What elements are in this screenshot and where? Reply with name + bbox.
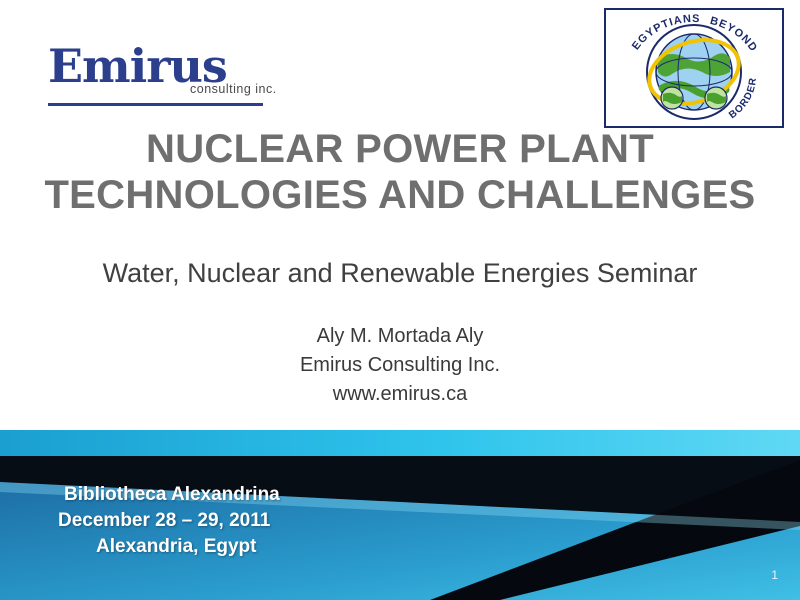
slide-title: NUCLEAR POWER PLANT TECHNOLOGIES AND CHA… xyxy=(0,126,800,218)
egyptians-beyond-borders-logo: EGYPTIANS BEYOND BORDERS xyxy=(604,8,784,128)
emirus-logo: Emirus consulting inc. xyxy=(48,42,318,102)
slide-title-line-1: NUCLEAR POWER PLANT xyxy=(0,126,800,172)
banner-venue: Bibliotheca Alexandrina xyxy=(64,482,280,508)
company-name: Emirus Consulting Inc. xyxy=(0,351,800,380)
website-url: www.emirus.ca xyxy=(0,380,800,409)
ebb-logo-graphic: EGYPTIANS BEYOND BORDERS xyxy=(606,10,782,126)
slide-byline: Aly M. Mortada Aly Emirus Consulting Inc… xyxy=(0,322,800,409)
slide-title-line-2: TECHNOLOGIES AND CHALLENGES xyxy=(0,172,800,218)
emirus-logo-underline xyxy=(48,103,263,106)
presentation-slide: Emirus consulting inc. xyxy=(0,0,800,600)
emirus-tagline: consulting inc. xyxy=(190,82,277,96)
bottom-banner: Bibliotheca Alexandrina December 28 – 29… xyxy=(0,430,800,600)
page-number: 1 xyxy=(771,568,778,582)
author-name: Aly M. Mortada Aly xyxy=(0,322,800,351)
slide-subtitle: Water, Nuclear and Renewable Energies Se… xyxy=(0,256,800,290)
banner-text-block: Bibliotheca Alexandrina December 28 – 29… xyxy=(58,482,280,560)
banner-dates: December 28 – 29, 2011 xyxy=(58,508,280,534)
banner-location: Alexandria, Egypt xyxy=(96,534,280,560)
